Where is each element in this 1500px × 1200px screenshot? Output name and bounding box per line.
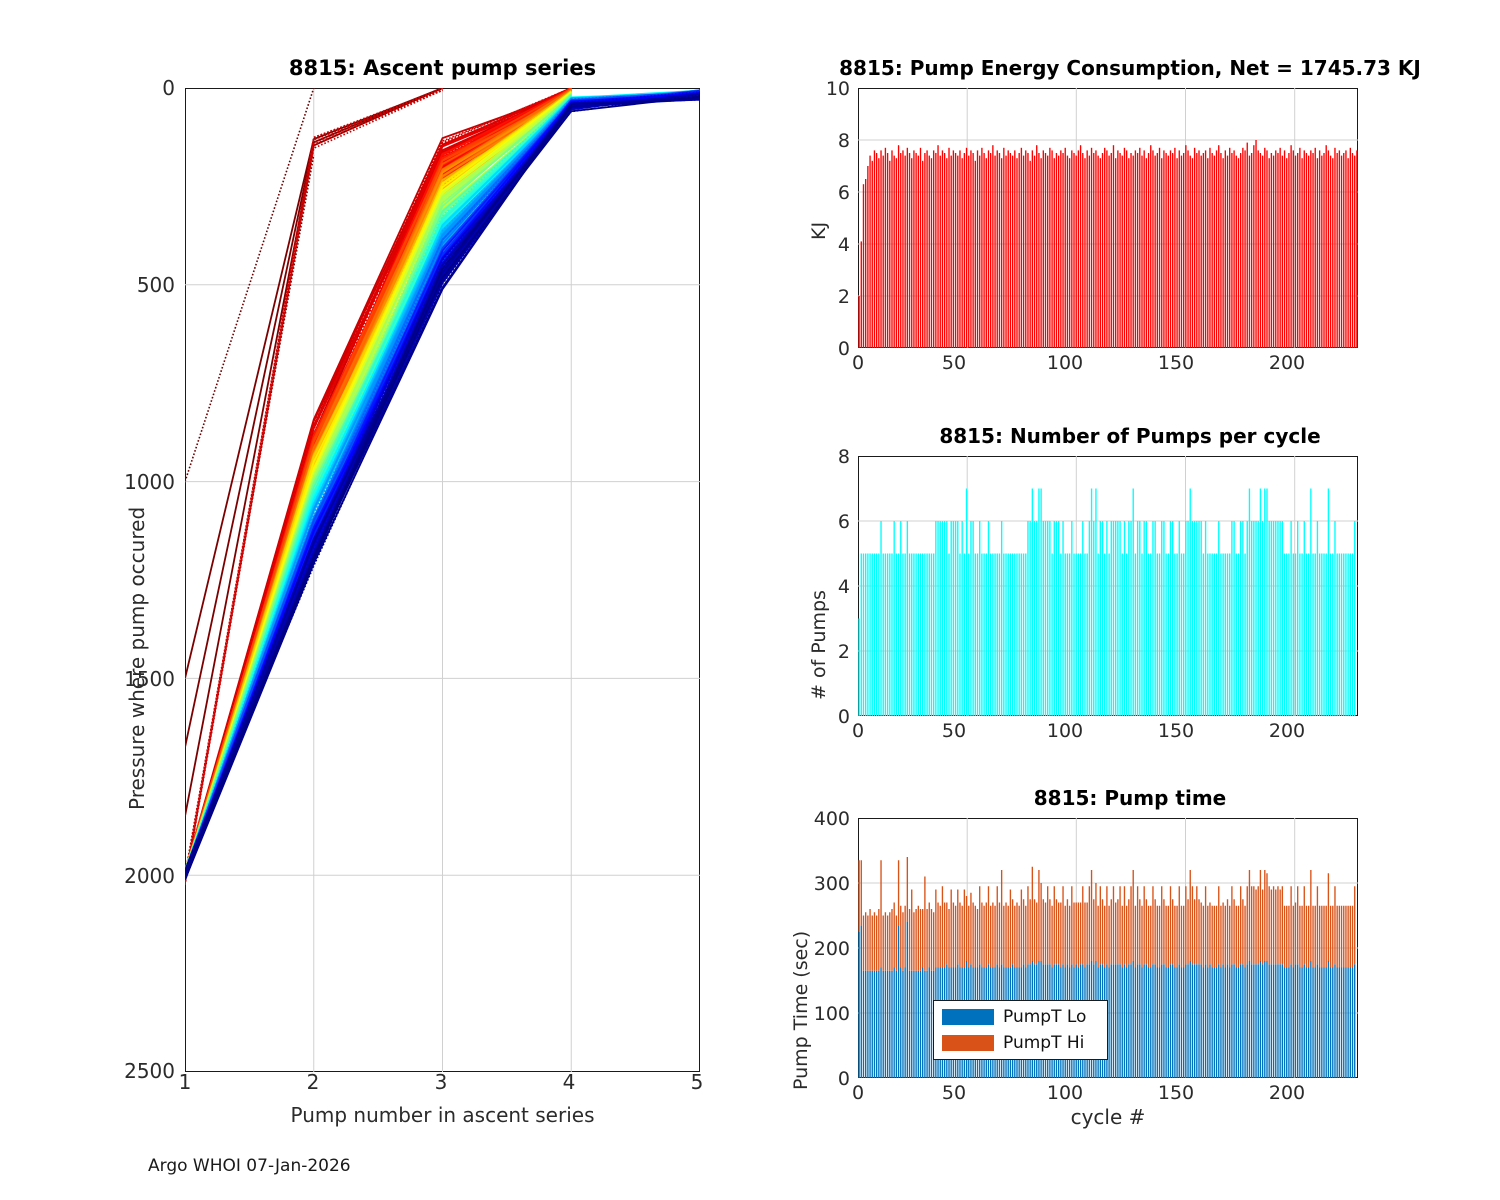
xtick-2: 2 bbox=[293, 1070, 333, 1094]
pump-energy-plot bbox=[858, 88, 1358, 348]
pump-time-title: 8815: Pump time bbox=[760, 786, 1500, 810]
xtick-4: 4 bbox=[549, 1070, 589, 1094]
ascent-pump-series-ylabel: Pressure where pump occured bbox=[125, 507, 149, 810]
pump-energy-title: 8815: Pump Energy Consumption, Net = 174… bbox=[760, 56, 1500, 80]
panel-pumps-per-cycle: 8815: Number of Pumps per cycle # of Pum… bbox=[740, 400, 1500, 780]
time-ytick-200: 200 bbox=[786, 938, 850, 960]
ytick-0: 0 bbox=[110, 76, 175, 100]
time-ytick-400: 400 bbox=[786, 808, 850, 830]
panel-ascent-pump-series: 8815: Ascent pump series Pressure where … bbox=[0, 0, 740, 1160]
pumps-per-cycle-title: 8815: Number of Pumps per cycle bbox=[760, 424, 1500, 448]
legend-swatch-pumpt-lo bbox=[942, 1009, 994, 1025]
ytick-500: 500 bbox=[110, 273, 175, 297]
pumps-ytick-8: 8 bbox=[800, 446, 850, 468]
energy-xtick-100: 100 bbox=[1045, 352, 1085, 374]
legend-label-pumpt-lo: PumpT Lo bbox=[1003, 1007, 1086, 1027]
energy-ytick-4: 4 bbox=[800, 234, 850, 256]
ytick-2000: 2000 bbox=[110, 864, 175, 888]
time-xtick-0: 0 bbox=[838, 1082, 878, 1104]
figure-canvas: 8815: Ascent pump series Pressure where … bbox=[0, 0, 1500, 1200]
xtick-5: 5 bbox=[677, 1070, 717, 1094]
panel-pump-energy: 8815: Pump Energy Consumption, Net = 174… bbox=[740, 0, 1500, 400]
energy-ytick-10: 10 bbox=[800, 78, 850, 100]
energy-ytick-6: 6 bbox=[800, 182, 850, 204]
panel-pump-time: 8815: Pump time Pump Time (sec) 400 300 … bbox=[740, 780, 1500, 1160]
pumps-xtick-200: 200 bbox=[1267, 720, 1307, 742]
ascent-pump-series-xlabel: Pump number in ascent series bbox=[185, 1103, 700, 1127]
energy-xtick-50: 50 bbox=[934, 352, 974, 374]
legend-label-pumpt-hi: PumpT Hi bbox=[1003, 1033, 1084, 1053]
xtick-1: 1 bbox=[165, 1070, 205, 1094]
time-xtick-150: 150 bbox=[1156, 1082, 1196, 1104]
pumps-xtick-100: 100 bbox=[1045, 720, 1085, 742]
pump-time-legend: PumpT Lo PumpT Hi bbox=[933, 1000, 1108, 1060]
time-xtick-200: 200 bbox=[1267, 1082, 1307, 1104]
ascent-pump-series-plot bbox=[185, 88, 700, 1072]
time-ytick-300: 300 bbox=[786, 873, 850, 895]
figure-footer: Argo WHOI 07-Jan-2026 bbox=[148, 1156, 351, 1176]
time-xtick-50: 50 bbox=[934, 1082, 974, 1104]
time-ytick-100: 100 bbox=[786, 1003, 850, 1025]
pumps-per-cycle-plot bbox=[858, 456, 1358, 716]
xtick-3: 3 bbox=[421, 1070, 461, 1094]
time-xtick-100: 100 bbox=[1045, 1082, 1085, 1104]
pumps-ytick-4: 4 bbox=[800, 576, 850, 598]
energy-xtick-150: 150 bbox=[1156, 352, 1196, 374]
ytick-1000: 1000 bbox=[110, 470, 175, 494]
ascent-pump-series-title: 8815: Ascent pump series bbox=[185, 56, 700, 80]
legend-swatch-pumpt-hi bbox=[942, 1035, 994, 1051]
pumps-xtick-0: 0 bbox=[838, 720, 878, 742]
pumps-ytick-6: 6 bbox=[800, 511, 850, 533]
ytick-1500: 1500 bbox=[110, 667, 175, 691]
energy-xtick-0: 0 bbox=[838, 352, 878, 374]
pumps-xtick-50: 50 bbox=[934, 720, 974, 742]
energy-xtick-200: 200 bbox=[1267, 352, 1307, 374]
pumps-ytick-2: 2 bbox=[800, 641, 850, 663]
energy-ytick-2: 2 bbox=[800, 286, 850, 308]
energy-ytick-8: 8 bbox=[800, 130, 850, 152]
pump-time-xlabel: cycle # bbox=[858, 1105, 1358, 1129]
pumps-xtick-150: 150 bbox=[1156, 720, 1196, 742]
